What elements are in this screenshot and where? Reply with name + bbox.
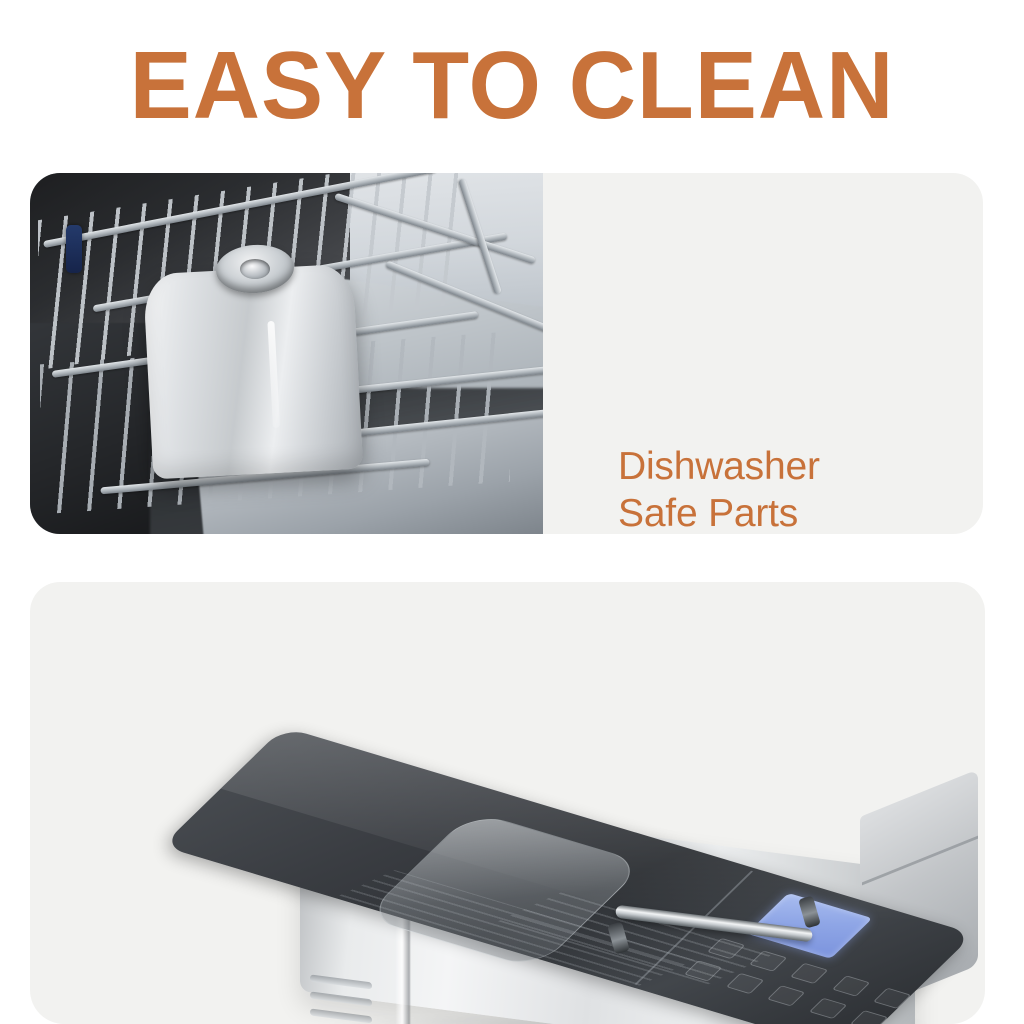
vent-slot [310,991,372,1006]
touch-key-icon[interactable] [725,973,763,994]
feature-card-dishwasher-safe: Dishwasher Safe Parts makes clean up qui… [30,173,983,534]
page-title: EASY TO CLEAN [15,34,1008,138]
rack-blue-clip [66,225,82,273]
touch-key-icon[interactable] [748,950,786,971]
dishwasher-rack-photo [30,173,543,534]
bread-maker-photo [270,727,985,1024]
vent-slot [310,1008,372,1023]
touch-key-icon[interactable] [808,998,846,1019]
touch-key-icon[interactable] [850,1010,888,1024]
bread-pan [143,264,363,480]
touch-key-icon[interactable] [767,985,805,1006]
feature-card-polished-glass-panel: Polished Glass Panel stylish, elegant & … [30,582,985,1024]
touch-key-icon[interactable] [831,975,869,996]
touch-key-icon[interactable] [790,963,828,984]
bread-pan-shaft-hub [240,259,270,279]
dishwasher-text-block: Dishwasher Safe Parts makes clean up qui… [618,443,860,534]
infographic-page: EASY TO CLEAN Dishw [0,0,1024,1024]
feature-title-dishwasher: Dishwasher Safe Parts [618,443,860,534]
